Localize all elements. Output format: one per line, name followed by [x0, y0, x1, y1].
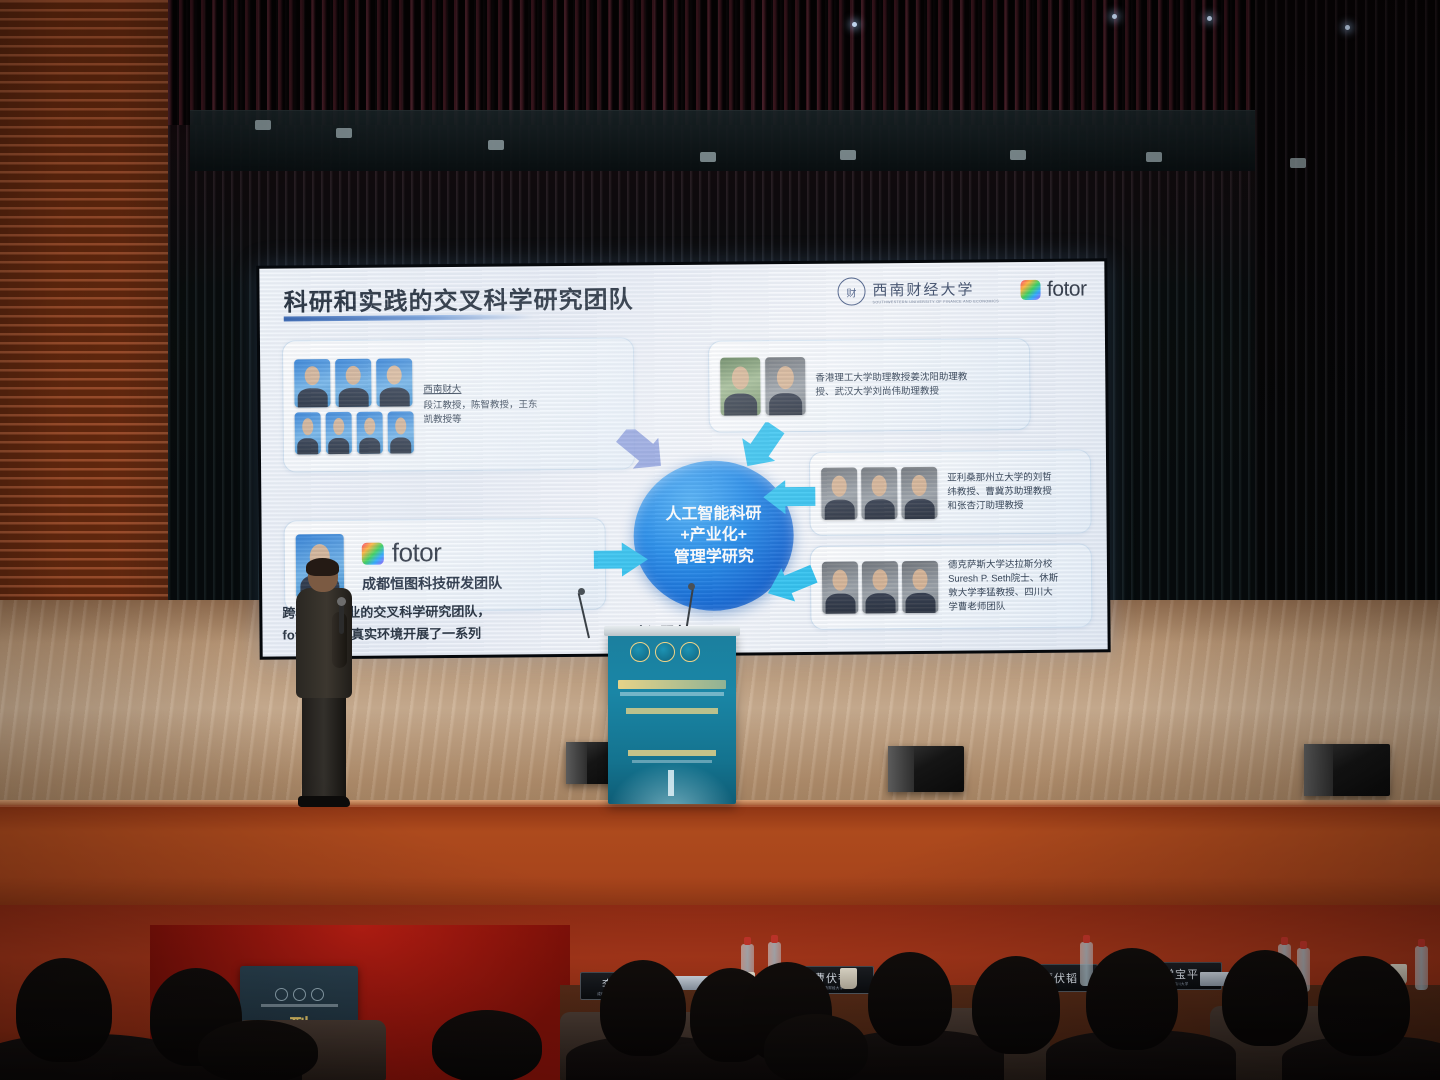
portrait [861, 467, 897, 519]
university-name-english: SOUTHWESTERN UNIVERSITY OF FINANCE AND E… [873, 299, 1000, 304]
portrait [376, 358, 412, 406]
card-asu-team: 亚利桑那州立大学的刘哲纬教授、曹冀苏助理教授和张杏汀助理教授 [809, 449, 1092, 535]
portrait [821, 467, 857, 519]
ceiling-spot-light [1345, 25, 1350, 30]
portrait [388, 411, 414, 453]
podium-microphone-head [688, 583, 695, 590]
audience-head [1086, 948, 1178, 1050]
lectern [608, 632, 736, 804]
card-body: 段江教授，陈智教授，王东凯教授等 [423, 399, 537, 425]
slide-title: 科研和实践的交叉科学研究团队 [283, 279, 633, 317]
audience-head [868, 952, 952, 1046]
presenter-shoes [298, 796, 350, 807]
arrow-from-swufe-team [613, 429, 669, 477]
presenter [292, 560, 358, 810]
audience-head [198, 1020, 318, 1080]
stage-light [336, 128, 352, 138]
audience-head [972, 956, 1060, 1054]
portrait [765, 357, 806, 415]
presenter-hair [306, 558, 339, 576]
stage-curtain-right [1255, 0, 1440, 660]
card-swufe-team: 西南财大 段江教授，陈智教授，王东凯教授等 [282, 337, 635, 472]
lectern-top [604, 626, 740, 636]
audience-head [764, 1014, 868, 1080]
slide-logos: 财 西南财经大学 SOUTHWESTERN UNIVERSITY OF FINA… [837, 275, 1086, 305]
stage-monitor-speaker [1304, 744, 1390, 796]
card-heading: 西南财大 [423, 383, 543, 398]
portrait [901, 467, 937, 519]
lectern-banner-title [618, 680, 726, 689]
portrait [326, 411, 352, 453]
sign-seal-icon [311, 988, 324, 1001]
portrait [335, 358, 371, 406]
stage-light [1290, 158, 1306, 168]
water-bottle [1415, 946, 1428, 990]
stage-monitor-speaker [888, 746, 964, 792]
portrait [295, 412, 321, 454]
sign-seal-icon [275, 988, 288, 1001]
card-heading: fotor [392, 537, 442, 568]
sign-subtitle [261, 1004, 338, 1007]
ceiling-spot-light [852, 22, 857, 27]
sign-seal-group [275, 988, 324, 1001]
center-node-line1: 人工智能科研 [665, 503, 761, 525]
presenter-legs [302, 692, 346, 800]
lectern-banner-tower-icon [668, 770, 674, 796]
led-screen: 科研和实践的交叉科学研究团队 财 西南财经大学 SOUTHWESTERN UNI… [256, 258, 1110, 659]
card-caption: 亚利桑那州立大学的刘哲纬教授、曹冀苏助理教授和张杏汀助理教授 [947, 471, 1059, 513]
paper-cup [840, 968, 857, 989]
fotor-mark-icon [1021, 280, 1041, 300]
card-body: 亚利桑那州立大学的刘哲纬教授、曹冀苏助理教授和张杏汀助理教授 [947, 472, 1052, 511]
conference-seal-icon [655, 642, 675, 662]
card-polyu-whu-team: 香港理工大学助理教授姜沈阳助理教授、武汉大学刘尚伟助理教授 [708, 338, 1031, 433]
arrow-from-polyu-team [733, 422, 787, 472]
conference-seal-icon [680, 642, 700, 662]
fotor-mark-icon [362, 542, 384, 564]
audience-head [1318, 956, 1410, 1056]
portrait [357, 411, 383, 453]
ceiling-spot-light [1207, 16, 1212, 21]
stage-light [488, 140, 504, 150]
conference-seal-icon [630, 642, 650, 662]
card-caption: 香港理工大学助理教授姜沈阳助理教授、武汉大学刘尚伟助理教授 [815, 371, 985, 400]
audience-head [1222, 950, 1308, 1046]
auditorium-photo: 科研和实践的交叉科学研究团队 财 西南财经大学 SOUTHWESTERN UNI… [0, 0, 1440, 1080]
center-node-line3: 管理学研究 [674, 546, 754, 568]
arrow-from-fotor-team [592, 541, 650, 578]
title-underline [284, 314, 534, 321]
university-name: 西南财经大学 [872, 278, 999, 300]
lectern-banner-date [628, 750, 716, 756]
stage-light [700, 152, 716, 162]
stage-light [255, 120, 271, 130]
slide-canvas: 科研和实践的交叉科学研究团队 财 西南财经大学 SOUTHWESTERN UNI… [259, 261, 1107, 656]
card-caption: 西南财大 段江教授，陈智教授，王东凯教授等 [423, 383, 543, 427]
card-body: 成都恒图科技研发团队 [362, 573, 502, 594]
center-node-line2: +产业化+ [680, 525, 747, 547]
sign-seal-icon [293, 988, 306, 1001]
audience-head [16, 958, 112, 1062]
stage-curtain-valance [168, 0, 1440, 125]
university-logo: 财 西南财经大学 SOUTHWESTERN UNIVERSITY OF FINA… [837, 276, 999, 305]
fotor-wordmark: fotor [1047, 277, 1087, 301]
audience-head [600, 960, 686, 1056]
podium-microphone-head [578, 588, 585, 595]
stage-light [1146, 152, 1162, 162]
lectern-seal-group [630, 642, 700, 662]
audience-head [432, 1010, 542, 1080]
portrait [720, 357, 761, 415]
lighting-truss [190, 110, 1430, 171]
university-seal-icon: 财 [837, 277, 865, 305]
handheld-microphone-icon [339, 604, 344, 634]
lectern-banner-line [626, 708, 718, 714]
lectern-banner-subtitle [620, 692, 724, 696]
card-body: 香港理工大学助理教授姜沈阳助理教授、武汉大学刘尚伟助理教授 [815, 372, 967, 398]
stage-light [1010, 150, 1026, 160]
ceiling-spot-light [1112, 14, 1117, 19]
stage-light [840, 150, 856, 160]
portrait [294, 359, 330, 407]
fotor-logo: fotor [1021, 277, 1087, 302]
arrow-from-asu-team [759, 480, 817, 515]
